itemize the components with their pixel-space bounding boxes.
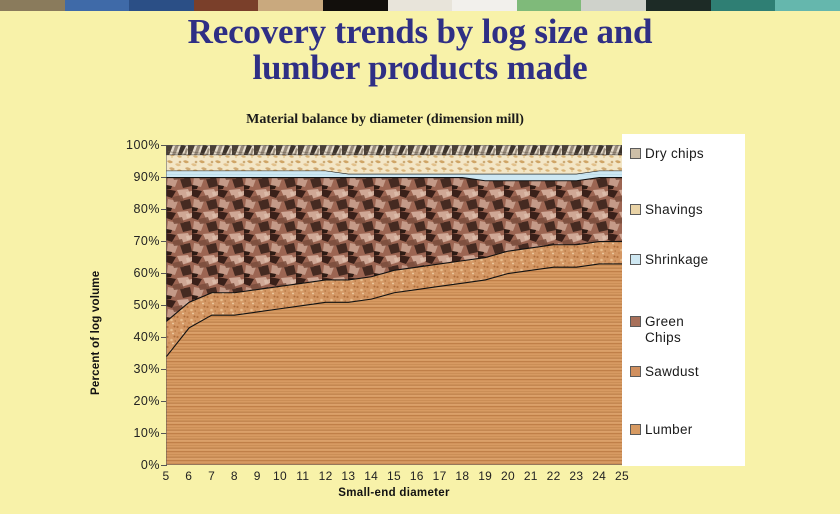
- chart-title: Material balance by diameter (dimension …: [150, 112, 620, 128]
- photo-thumb: [0, 0, 65, 11]
- x-axis-tick: 16: [410, 469, 424, 483]
- x-axis-tick: 18: [455, 469, 469, 483]
- photo-thumb: [129, 0, 194, 11]
- y-axis-label: Percent of log volume: [90, 271, 102, 395]
- photo-thumb: [388, 0, 453, 11]
- plot-area: [166, 145, 622, 465]
- x-axis-tick: 12: [319, 469, 333, 483]
- x-axis-tick: 13: [341, 469, 355, 483]
- y-axis-tick: 60%: [133, 266, 160, 280]
- legend-item[interactable]: Sawdust: [630, 364, 699, 380]
- legend-label: Shrinkage: [645, 252, 709, 268]
- legend-swatch-icon: [630, 148, 641, 159]
- x-axis: 5678910111213141516171819202122232425: [166, 469, 622, 485]
- legend-swatch-icon: [630, 366, 641, 377]
- y-axis-tick: 100%: [126, 138, 160, 152]
- photo-strip: [0, 0, 840, 11]
- legend-swatch-icon: [630, 424, 641, 435]
- photo-thumb: [452, 0, 517, 11]
- page-title: Recovery trends by log size and lumber p…: [0, 14, 840, 86]
- photo-thumb: [711, 0, 776, 11]
- photo-thumb: [581, 0, 646, 11]
- x-axis-tick: 11: [296, 469, 309, 483]
- x-axis-tick: 9: [254, 469, 261, 483]
- legend-item[interactable]: Dry chips: [630, 146, 704, 162]
- legend-label: Dry chips: [645, 146, 704, 162]
- x-axis-tick: 14: [364, 469, 378, 483]
- photo-thumb: [517, 0, 582, 11]
- x-axis-tick: 21: [524, 469, 538, 483]
- y-axis-tick: 30%: [133, 362, 160, 376]
- y-axis-tick: 10%: [133, 426, 160, 440]
- x-axis-tick: 25: [615, 469, 629, 483]
- legend-label: Green Chips: [645, 314, 684, 346]
- legend-label: Shavings: [645, 202, 703, 218]
- x-axis-tick: 23: [569, 469, 583, 483]
- x-axis-tick: 6: [185, 469, 192, 483]
- y-axis-tick: 90%: [133, 170, 160, 184]
- legend-label: Lumber: [645, 422, 693, 438]
- y-axis-tick: 80%: [133, 202, 160, 216]
- x-axis-tick: 10: [273, 469, 287, 483]
- y-axis-tick: 70%: [133, 234, 160, 248]
- x-axis-tick: 7: [208, 469, 215, 483]
- area-series-dry-chips: [166, 145, 622, 155]
- photo-thumb: [65, 0, 130, 11]
- x-axis-tick: 24: [592, 469, 606, 483]
- y-axis-tick: 40%: [133, 330, 160, 344]
- legend-item[interactable]: Shrinkage: [630, 252, 709, 268]
- y-axis-tick: 50%: [133, 298, 160, 312]
- x-axis-tick: 8: [231, 469, 238, 483]
- y-axis-tick: 0%: [141, 458, 160, 472]
- x-axis-tick: 19: [478, 469, 492, 483]
- photo-thumb: [646, 0, 711, 11]
- photo-thumb: [194, 0, 259, 11]
- x-axis-tick: 5: [163, 469, 170, 483]
- photo-thumb: [775, 0, 840, 11]
- legend-swatch-icon: [630, 204, 641, 215]
- legend-item[interactable]: Lumber: [630, 422, 693, 438]
- title-line-1: Recovery trends by log size and: [188, 12, 653, 51]
- legend-item[interactable]: Green Chips: [630, 314, 684, 346]
- x-axis-tick: 15: [387, 469, 401, 483]
- title-line-2: lumber products made: [0, 50, 840, 86]
- y-axis-tick: 20%: [133, 394, 160, 408]
- chart-legend: Dry chipsShavingsShrinkageGreen ChipsSaw…: [622, 134, 745, 466]
- x-axis-tick: 20: [501, 469, 515, 483]
- legend-item[interactable]: Shavings: [630, 202, 703, 218]
- photo-thumb: [258, 0, 323, 11]
- photo-thumb: [323, 0, 388, 11]
- x-axis-tick: 22: [547, 469, 561, 483]
- legend-swatch-icon: [630, 316, 641, 327]
- x-axis-tick: 17: [433, 469, 447, 483]
- slide-canvas: Recovery trends by log size and lumber p…: [0, 0, 840, 514]
- x-axis-label: Small-end diameter: [166, 487, 622, 499]
- stacked-area-chart: [166, 145, 622, 465]
- legend-swatch-icon: [630, 254, 641, 265]
- legend-label: Sawdust: [645, 364, 699, 380]
- y-axis-tick-mark: [161, 465, 167, 466]
- y-axis: Percent of log volume 0%10%20%30%40%50%6…: [96, 145, 160, 465]
